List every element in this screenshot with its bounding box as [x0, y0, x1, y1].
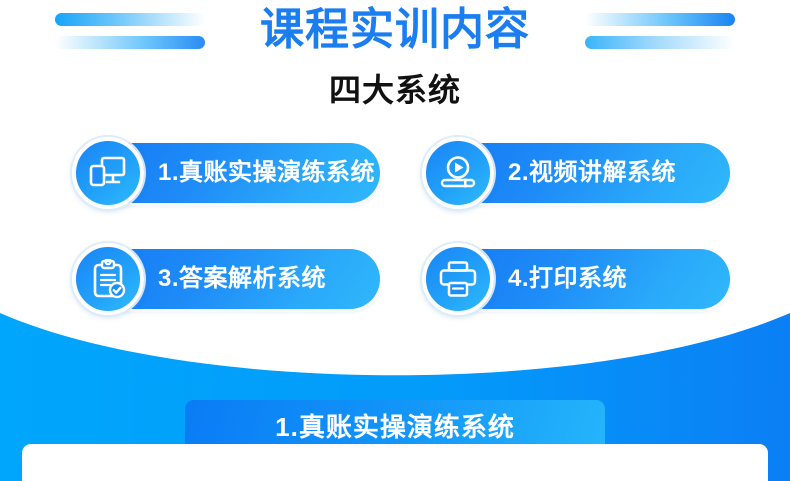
page-title: 课程实训内容: [0, 8, 790, 52]
header-section: 课程实训内容 四大系统: [0, 0, 790, 130]
video-play-icon: [422, 137, 494, 209]
system-card-2[interactable]: 2.视频讲解系统: [430, 143, 730, 203]
system-card-1[interactable]: 1.真账实操演练系统: [80, 143, 380, 203]
poster-root: 课程实训内容 四大系统 1.真账实操演练系统 2.视频讲解系统: [0, 0, 790, 481]
monitor-icon: [72, 137, 144, 209]
system-card-1-label: 1.真账实操演练系统: [158, 143, 375, 203]
system-card-2-label: 2.视频讲解系统: [508, 143, 676, 203]
content-panel: [22, 444, 768, 481]
page-subtitle: 四大系统: [0, 74, 790, 106]
